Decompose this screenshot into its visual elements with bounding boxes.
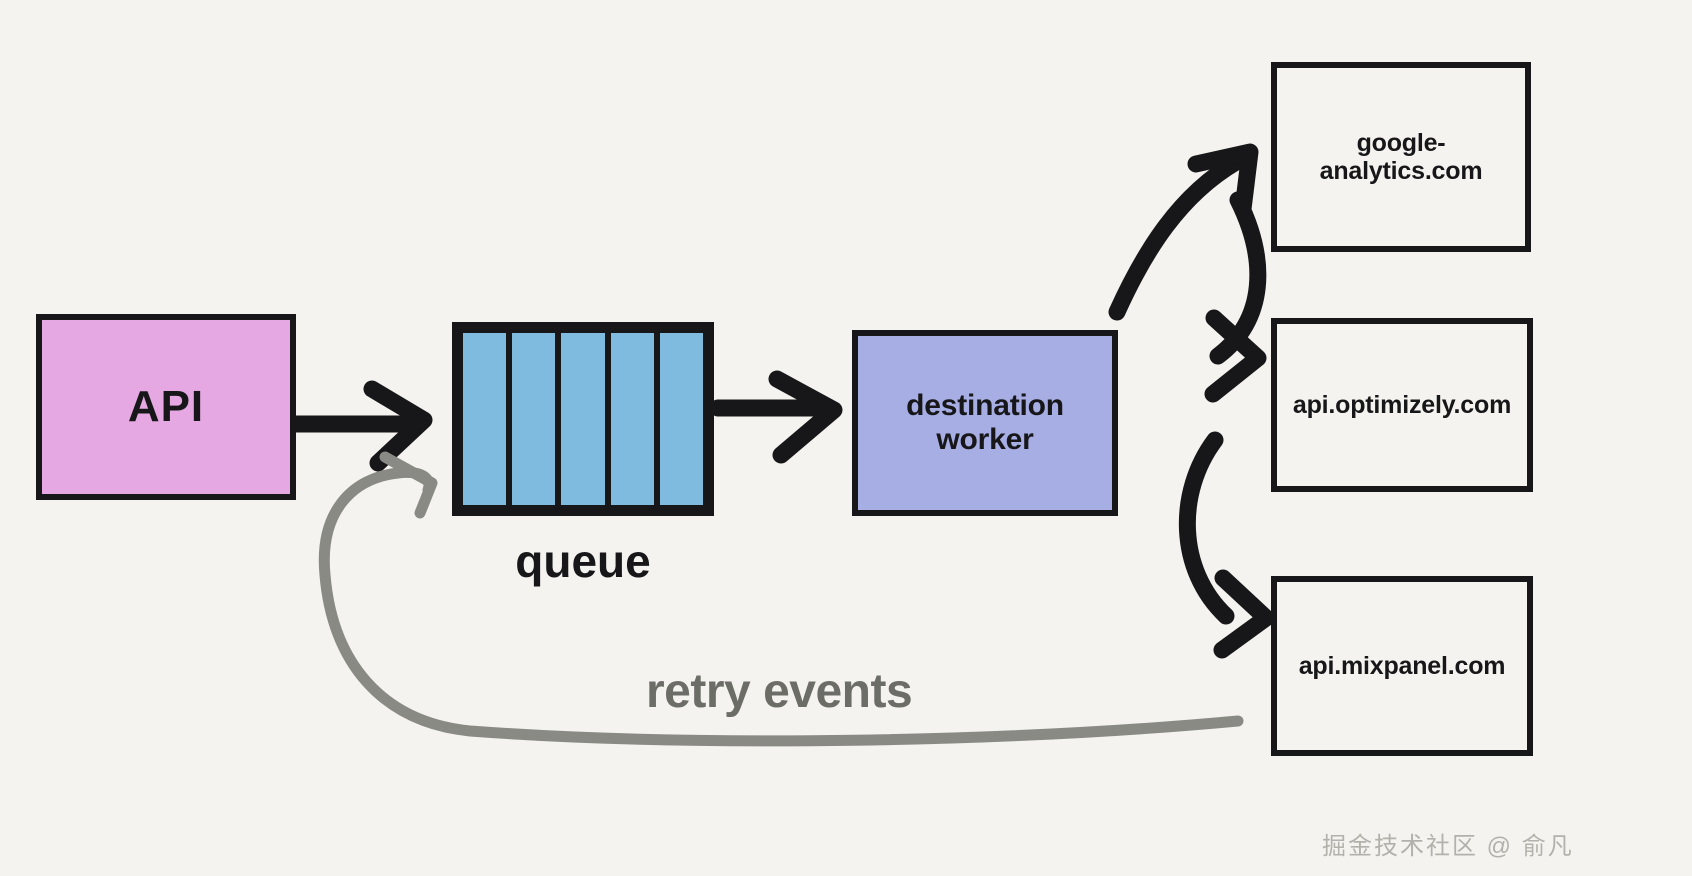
node-worker-label-line2: worker	[936, 423, 1033, 456]
node-worker-label-line1: destination	[906, 389, 1064, 422]
queue-slot	[512, 333, 555, 505]
node-destination-api-mixpanel[interactable]: api.mixpanel.com	[1271, 576, 1533, 756]
edge-worker-to-api-optimizely	[1213, 200, 1258, 394]
node-queue[interactable]	[452, 322, 714, 516]
edge-queue-to-worker	[718, 379, 834, 455]
node-destination-label: api.mixpanel.com	[1299, 652, 1506, 680]
node-destination-api-optimizely[interactable]: api.optimizely.com	[1271, 318, 1533, 492]
queue-slot	[611, 333, 654, 505]
queue-slot	[561, 333, 604, 505]
node-destination-google-analytics[interactable]: google-analytics.com	[1271, 62, 1531, 252]
node-destination-label: api.optimizely.com	[1293, 391, 1511, 419]
retry-events-label: retry events	[646, 664, 912, 719]
edge-worker-to-google-analytics	[1117, 152, 1250, 312]
node-api[interactable]: API	[36, 314, 296, 500]
node-destination-label: google-analytics.com	[1277, 129, 1525, 185]
node-destination-worker[interactable]: destination worker	[852, 330, 1118, 516]
queue-slot	[660, 333, 703, 505]
edge-worker-to-api-mixpanel	[1187, 440, 1266, 650]
node-queue-label: queue	[452, 534, 714, 588]
node-api-label: API	[128, 382, 204, 431]
watermark: 掘金技术社区 @ 俞凡	[1322, 826, 1574, 861]
edge-api-to-queue	[291, 389, 424, 463]
queue-slot	[463, 333, 506, 505]
diagram-canvas: API queue destination worker google-anal…	[0, 0, 1692, 876]
